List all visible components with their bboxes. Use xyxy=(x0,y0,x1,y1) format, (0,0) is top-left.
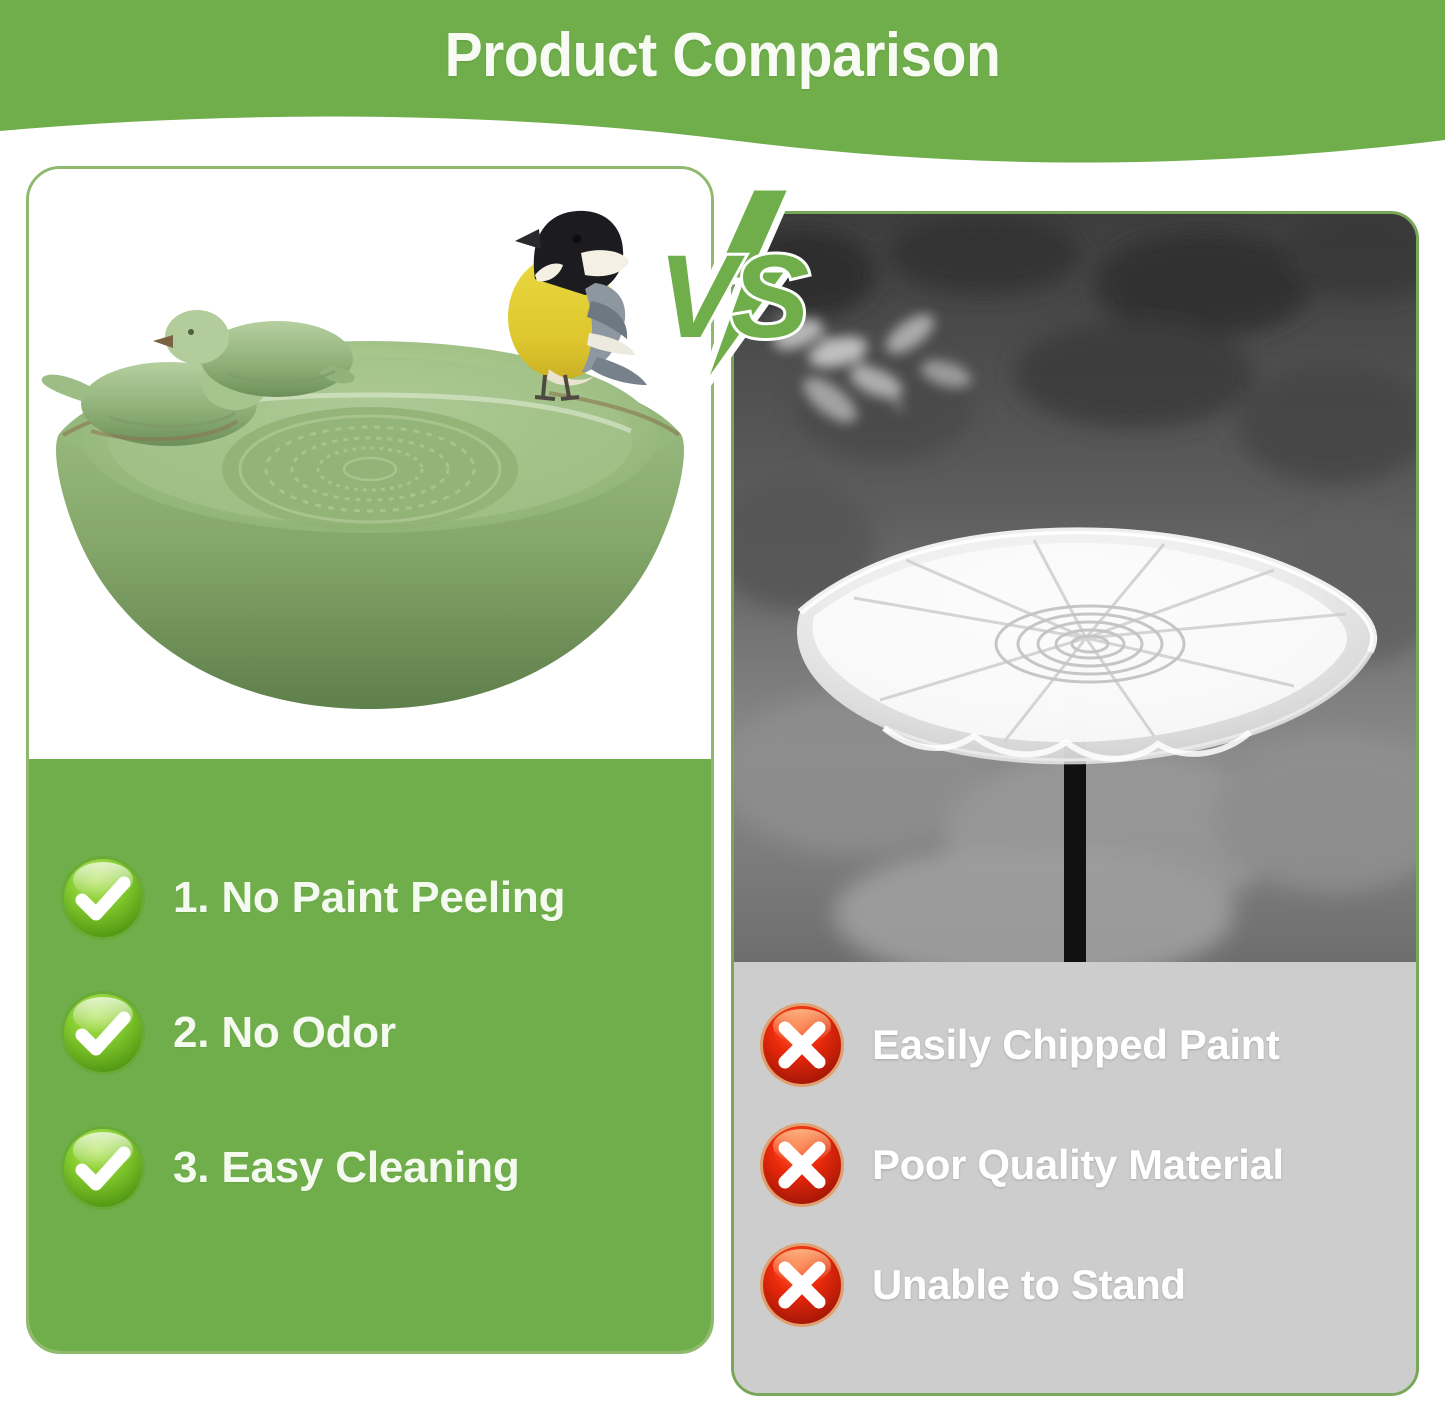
list-item: Unable to Stand xyxy=(758,1244,1416,1326)
right-drawbacks-list: Easily Chipped Paint Poor Quality Materi… xyxy=(734,962,1416,1396)
drawback-label: Poor Quality Material xyxy=(872,1141,1284,1189)
left-benefits-list: 1. No Paint Peeling 2. No Odor xyxy=(29,759,711,1354)
svg-text:VS: VS xyxy=(658,231,809,363)
list-item: 2. No Odor xyxy=(59,989,711,1077)
right-product-photo xyxy=(734,214,1416,962)
vs-badge: VS xyxy=(640,185,830,400)
list-item: 3. Easy Cleaning xyxy=(59,1124,711,1212)
benefit-label: 1. No Paint Peeling xyxy=(173,873,565,923)
page-title: Product Comparison xyxy=(58,20,1387,91)
drawback-label: Unable to Stand xyxy=(872,1261,1186,1309)
drawback-label: Easily Chipped Paint xyxy=(872,1021,1279,1069)
check-circle-icon xyxy=(59,989,147,1077)
left-product-photo xyxy=(29,169,711,759)
check-circle-icon xyxy=(59,1124,147,1212)
list-item: Easily Chipped Paint xyxy=(758,1004,1416,1086)
x-circle-icon xyxy=(758,1001,846,1089)
x-circle-icon xyxy=(758,1121,846,1209)
benefit-label: 2. No Odor xyxy=(173,1008,396,1058)
list-item: 1. No Paint Peeling xyxy=(59,854,711,942)
right-product-panel: Easily Chipped Paint Poor Quality Materi… xyxy=(731,211,1419,1396)
check-circle-icon xyxy=(59,854,147,942)
x-circle-icon xyxy=(758,1241,846,1329)
list-item: Poor Quality Material xyxy=(758,1124,1416,1206)
benefit-label: 3. Easy Cleaning xyxy=(173,1143,520,1193)
left-product-panel: 1. No Paint Peeling 2. No Odor xyxy=(26,166,714,1354)
